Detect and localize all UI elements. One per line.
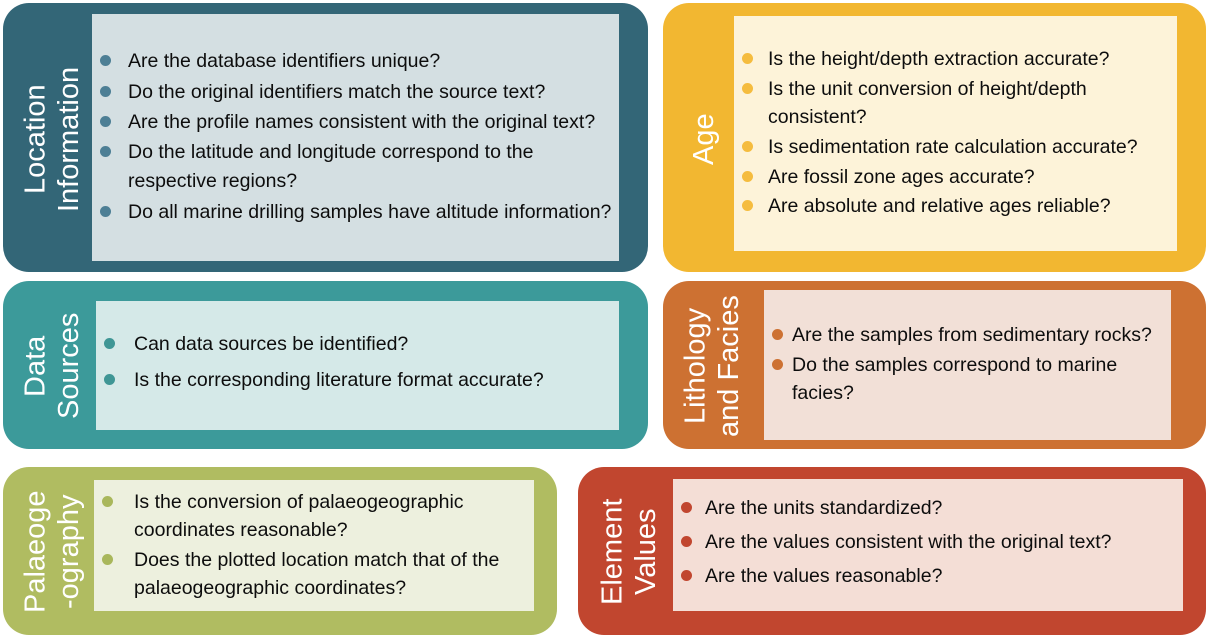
bullet-dot-icon	[104, 338, 115, 349]
bullet-list-element-values: Are the units standardized? Are the valu…	[673, 479, 1183, 611]
list-item-label: Does the plotted location match that of …	[134, 549, 499, 599]
bullet-dot-icon	[100, 86, 111, 97]
bullet-list-palaeogeography: Is the conversion of palaeogeographic co…	[94, 480, 534, 611]
list-item: Are the samples from sedimentary rocks?	[764, 321, 1171, 350]
bullet-dot-icon	[742, 53, 753, 64]
bullet-dot-icon	[681, 502, 692, 513]
bullet-dot-icon	[742, 171, 753, 182]
panel-content-palaeogeography: Is the conversion of palaeogeographic co…	[94, 480, 534, 611]
list-item: Are the values consistent with the origi…	[673, 528, 1183, 556]
bullet-dot-icon	[681, 536, 692, 547]
list-item: Is sedimentation rate calculation accura…	[734, 133, 1177, 162]
list-item-label: Is the conversion of palaeogeographic co…	[134, 491, 464, 541]
panel-title-lithology-and-facies: Lithology and Facies	[675, 293, 751, 439]
panel-content-lithology-and-facies: Are the samples from sedimentary rocks? …	[764, 290, 1171, 440]
list-item: Are the values reasonable?	[673, 562, 1183, 590]
panel-title-element-values: Element Values	[592, 481, 668, 623]
panel-age: Age Is the height/depth extraction accur…	[663, 3, 1206, 272]
list-item-label: Is the height/depth extraction accurate?	[768, 48, 1109, 70]
list-item-label: Is the corresponding literature format a…	[134, 369, 544, 391]
panel-content-element-values: Are the units standardized? Are the valu…	[673, 479, 1183, 611]
list-item: Are absolute and relative ages reliable?	[734, 192, 1177, 221]
bullet-dot-icon	[772, 359, 783, 370]
panel-lithology-and-facies: Lithology and Facies Are the samples fro…	[663, 281, 1206, 449]
bullet-list-data-sources: Can data sources be identified? Is the c…	[96, 301, 619, 430]
list-item: Is the conversion of palaeogeographic co…	[94, 488, 534, 545]
list-item-label: Do the latitude and longitude correspond…	[128, 141, 533, 192]
list-item-label: Are fossil zone ages accurate?	[768, 166, 1035, 188]
panel-content-age: Is the height/depth extraction accurate?…	[734, 16, 1177, 251]
list-item: Can data sources be identified?	[96, 330, 619, 358]
list-item: Is the height/depth extraction accurate?	[734, 45, 1177, 74]
bullet-dot-icon	[681, 570, 692, 581]
list-item-label: Do the samples correspond to marine faci…	[792, 354, 1117, 405]
bullet-dot-icon	[100, 206, 111, 217]
bullet-dot-icon	[100, 55, 111, 66]
panel-title-age: Age	[681, 17, 729, 261]
bullet-dot-icon	[100, 116, 111, 127]
panel-title-location-information: Location Information	[15, 17, 91, 261]
list-item-label: Are the values consistent with the origi…	[705, 531, 1111, 553]
bullet-dot-icon	[100, 146, 111, 157]
bullet-dot-icon	[102, 554, 113, 565]
list-item-label: Are absolute and relative ages reliable?	[768, 195, 1111, 217]
list-item-label: Are the units standardized?	[705, 497, 942, 519]
list-item-label: Can data sources be identified?	[134, 333, 408, 355]
list-item: Are fossil zone ages accurate?	[734, 163, 1177, 192]
list-item: Do the latitude and longitude correspond…	[92, 138, 619, 197]
list-item-label: Are the values reasonable?	[705, 565, 942, 587]
bullet-dot-icon	[742, 141, 753, 152]
panel-palaeogeography: Palaeoge -ography Is the conversion of p…	[3, 467, 557, 635]
bullet-dot-icon	[102, 496, 113, 507]
list-item: Does the plotted location match that of …	[94, 546, 534, 603]
bullet-dot-icon	[742, 83, 753, 94]
panel-data-sources: Data Sources Can data sources be identif…	[3, 281, 648, 449]
list-item: Are the units standardized?	[673, 494, 1183, 522]
panel-element-values: Element Values Are the units standardize…	[578, 467, 1206, 635]
panel-content-data-sources: Can data sources be identified? Is the c…	[96, 301, 619, 430]
panel-content-location-information: Are the database identifiers unique? Do …	[92, 14, 619, 261]
list-item: Are the database identifiers unique?	[92, 47, 619, 76]
list-item-label: Are the database identifiers unique?	[128, 50, 440, 72]
list-item-label: Is the unit conversion of height/depth c…	[768, 78, 1087, 129]
list-item: Are the profile names consistent with th…	[92, 108, 619, 137]
panel-title-palaeogeography: Palaeoge -ography	[15, 481, 91, 623]
bullet-dot-icon	[772, 329, 783, 340]
bullet-list-lithology-and-facies: Are the samples from sedimentary rocks? …	[764, 290, 1171, 440]
list-item-label: Do all marine drilling samples have alti…	[128, 201, 611, 223]
list-item-label: Are the profile names consistent with th…	[128, 111, 595, 133]
list-item: Do the original identifiers match the so…	[92, 78, 619, 107]
list-item-label: Are the samples from sedimentary rocks?	[792, 324, 1152, 346]
list-item-label: Is sedimentation rate calculation accura…	[768, 136, 1138, 158]
list-item: Is the corresponding literature format a…	[96, 366, 619, 394]
bullet-dot-icon	[104, 374, 115, 385]
panel-title-data-sources: Data Sources	[15, 295, 91, 437]
list-item: Do the samples correspond to marine faci…	[764, 351, 1171, 408]
list-item: Do all marine drilling samples have alti…	[92, 198, 619, 227]
list-item-label: Do the original identifiers match the so…	[128, 81, 545, 103]
list-item: Is the unit conversion of height/depth c…	[734, 75, 1177, 132]
bullet-list-location-information: Are the database identifiers unique? Do …	[92, 14, 619, 261]
bullet-list-age: Is the height/depth extraction accurate?…	[734, 16, 1177, 251]
bullet-dot-icon	[742, 200, 753, 211]
panel-location-information: Location Information Are the database id…	[3, 3, 648, 272]
